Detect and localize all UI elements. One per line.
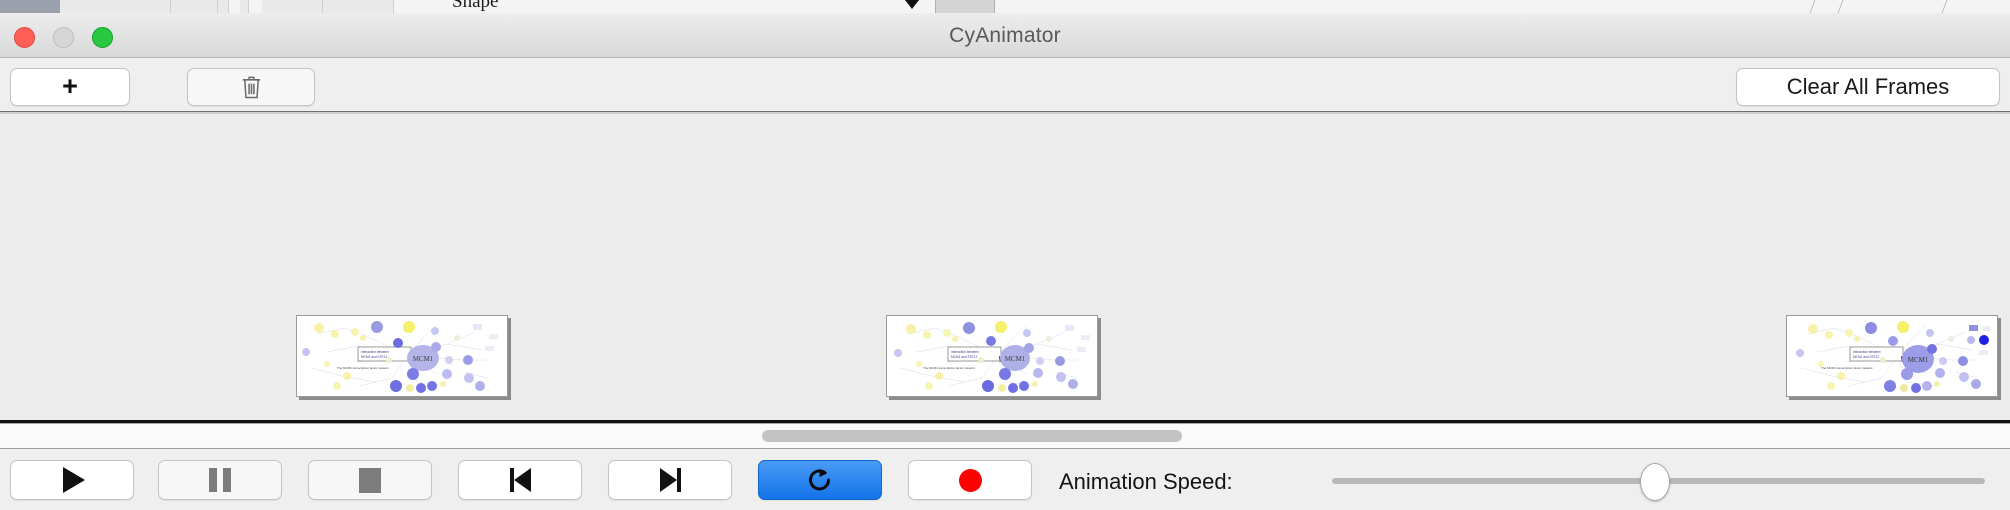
- stop-button[interactable]: [308, 460, 432, 500]
- pause-icon: [209, 468, 231, 492]
- svg-text:MCM1 and STE12: MCM1 and STE12: [361, 355, 387, 359]
- network-graph-thumbnail: Interaction between MCM1 and STE12 The M…: [1787, 316, 1997, 396]
- record-button[interactable]: [908, 460, 1032, 500]
- background-tab: [262, 0, 323, 13]
- clear-all-frames-button[interactable]: Clear All Frames: [1736, 68, 2000, 106]
- background-selected-tab: [0, 0, 60, 13]
- svg-text:MCM1: MCM1: [1908, 356, 1929, 364]
- pause-button[interactable]: [158, 460, 282, 500]
- svg-text:The MCM1 transcription factor: The MCM1 transcription factor network: [1821, 366, 1873, 370]
- timeline-panel[interactable]: Interaction between MCM1 and STE12 The M…: [0, 112, 2010, 424]
- background-tab: [171, 0, 218, 13]
- loop-icon: [806, 466, 834, 494]
- svg-text:Interaction between: Interaction between: [951, 350, 979, 354]
- skip-next-icon: [660, 468, 681, 492]
- background-tab: [218, 0, 229, 13]
- svg-text:Interaction between: Interaction between: [1853, 350, 1881, 354]
- timeline-axis: [0, 420, 2010, 423]
- background-tab: [323, 0, 394, 13]
- loop-button[interactable]: [758, 460, 882, 500]
- frame-toolbar: + Clear All Frames: [0, 58, 2010, 112]
- network-graph-thumbnail: Interaction between MCM1 and STE12 The M…: [887, 316, 1097, 396]
- frame-thumbnail-3[interactable]: Interaction between MCM1 and STE12 The M…: [1786, 315, 1998, 397]
- frame-thumbnail-2[interactable]: Interaction between MCM1 and STE12 The M…: [886, 315, 1098, 397]
- svg-text:Interaction between: Interaction between: [361, 350, 389, 354]
- frame-thumbnail-1[interactable]: Interaction between MCM1 and STE12 The M…: [296, 315, 508, 397]
- playback-controls: Animation Speed:: [0, 449, 2010, 510]
- background-divider: [1810, 0, 1816, 13]
- network-graph-thumbnail: Interaction between MCM1 and STE12 The M…: [297, 316, 507, 396]
- slider-thumb[interactable]: [1640, 463, 1670, 501]
- cyanimator-window: CyAnimator + Clear All Frames: [0, 13, 2010, 510]
- animation-speed-label: Animation Speed:: [1059, 469, 1233, 495]
- stop-icon: [359, 468, 381, 493]
- timeline-top-divider: [0, 112, 2010, 114]
- delete-frame-button[interactable]: [187, 68, 315, 106]
- play-icon: [63, 467, 85, 493]
- scrollbar-thumb[interactable]: [762, 430, 1182, 442]
- background-tab: [60, 0, 171, 13]
- background-tab: [240, 0, 249, 13]
- animation-speed-slider[interactable]: [1332, 478, 1985, 484]
- trash-icon: [240, 74, 263, 100]
- svg-text:The MCM1 transcription factor: The MCM1 transcription factor network: [337, 366, 389, 370]
- window-title: CyAnimator: [0, 24, 2010, 48]
- timeline-scrollbar[interactable]: [0, 424, 2010, 449]
- next-frame-button[interactable]: [608, 460, 732, 500]
- background-divider: [1838, 0, 1844, 13]
- record-icon: [959, 469, 982, 492]
- background-window-label: Shape: [452, 0, 498, 13]
- svg-text:MCM1 and STE12: MCM1 and STE12: [951, 355, 977, 359]
- svg-text:The MCM1 transcription factor: The MCM1 transcription factor network: [923, 366, 975, 370]
- skip-previous-icon: [510, 468, 531, 492]
- play-button[interactable]: [10, 460, 134, 500]
- plus-icon: +: [62, 73, 78, 100]
- app-root: Shape CyAnimator +: [0, 0, 2010, 510]
- previous-frame-button[interactable]: [458, 460, 582, 500]
- background-arrow-icon: [905, 0, 919, 9]
- title-bar[interactable]: CyAnimator: [0, 13, 2010, 58]
- background-window-strip: Shape: [0, 0, 2010, 14]
- add-frame-button[interactable]: +: [10, 68, 130, 106]
- svg-text:MCM1: MCM1: [1005, 355, 1026, 363]
- svg-text:MCM1: MCM1: [413, 355, 434, 363]
- svg-text:MCM1 and STE12: MCM1 and STE12: [1853, 355, 1879, 359]
- background-divider: [1942, 0, 1948, 13]
- background-box: [935, 0, 995, 13]
